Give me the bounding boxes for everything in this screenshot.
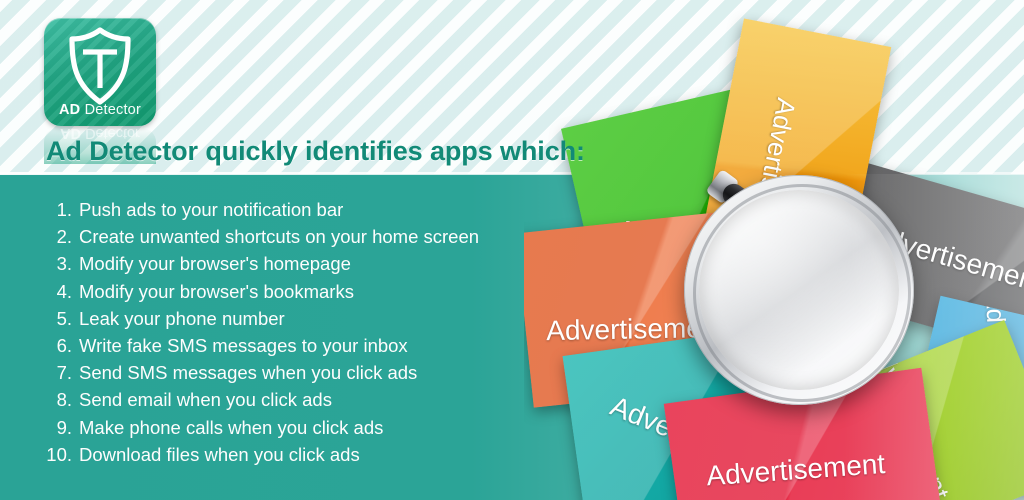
list-item-number: 6. xyxy=(44,332,72,359)
list-item-label: Write fake SMS messages to your inbox xyxy=(79,332,408,359)
list-item-number: 10. xyxy=(44,441,72,468)
list-item-number: 5. xyxy=(44,305,72,332)
list-item: 1.Push ads to your notification bar xyxy=(44,196,564,223)
feature-list: 1.Push ads to your notification bar 2.Cr… xyxy=(44,196,564,468)
promo-banner: Advertisement Advertisement Advertisemen… xyxy=(0,0,1024,500)
list-item-number: 3. xyxy=(44,250,72,277)
list-item-label: Download files when you click ads xyxy=(79,441,360,468)
list-item: 3.Modify your browser's homepage xyxy=(44,250,564,277)
ad-detector-app-icon: AD Detector xyxy=(44,18,156,126)
list-item-number: 9. xyxy=(44,414,72,441)
list-item-label: Send email when you click ads xyxy=(79,386,332,413)
list-item-label: Send SMS messages when you click ads xyxy=(79,359,417,386)
ad-cards-illustration: Advertisement Advertisement Advertisemen… xyxy=(524,0,1024,500)
list-item-label: Make phone calls when you click ads xyxy=(79,414,383,441)
list-item-label: Modify your browser's bookmarks xyxy=(79,278,354,305)
app-icon-block: AD Detector AD Detector xyxy=(44,18,160,148)
list-item: 5.Leak your phone number xyxy=(44,305,564,332)
page-title: Ad Detector quickly identifies apps whic… xyxy=(46,136,585,167)
magnifying-glass-icon xyxy=(684,175,914,405)
magnifier-inner-ring xyxy=(693,184,911,402)
list-item-number: 7. xyxy=(44,359,72,386)
list-item: 9.Make phone calls when you click ads xyxy=(44,414,564,441)
list-item-label: Create unwanted shortcuts on your home s… xyxy=(79,223,479,250)
app-icon-label: AD Detector xyxy=(44,103,156,118)
app-icon-label-detector: Detector xyxy=(80,102,141,118)
shield-icon xyxy=(65,26,135,106)
ad-card-caption: Advertisement xyxy=(705,448,886,492)
list-item-number: 8. xyxy=(44,386,72,413)
list-item-number: 1. xyxy=(44,196,72,223)
list-item: 7.Send SMS messages when you click ads xyxy=(44,359,564,386)
list-item-label: Push ads to your notification bar xyxy=(79,196,343,223)
list-item-number: 2. xyxy=(44,223,72,250)
list-item-number: 4. xyxy=(44,278,72,305)
list-item: 8.Send email when you click ads xyxy=(44,386,564,413)
list-item: 2.Create unwanted shortcuts on your home… xyxy=(44,223,564,250)
list-item: 10.Download files when you click ads xyxy=(44,441,564,468)
list-item: 6.Write fake SMS messages to your inbox xyxy=(44,332,564,359)
app-icon-label-ad: AD xyxy=(59,102,80,118)
list-item-label: Leak your phone number xyxy=(79,305,285,332)
list-item-label: Modify your browser's homepage xyxy=(79,250,351,277)
list-item: 4.Modify your browser's bookmarks xyxy=(44,278,564,305)
